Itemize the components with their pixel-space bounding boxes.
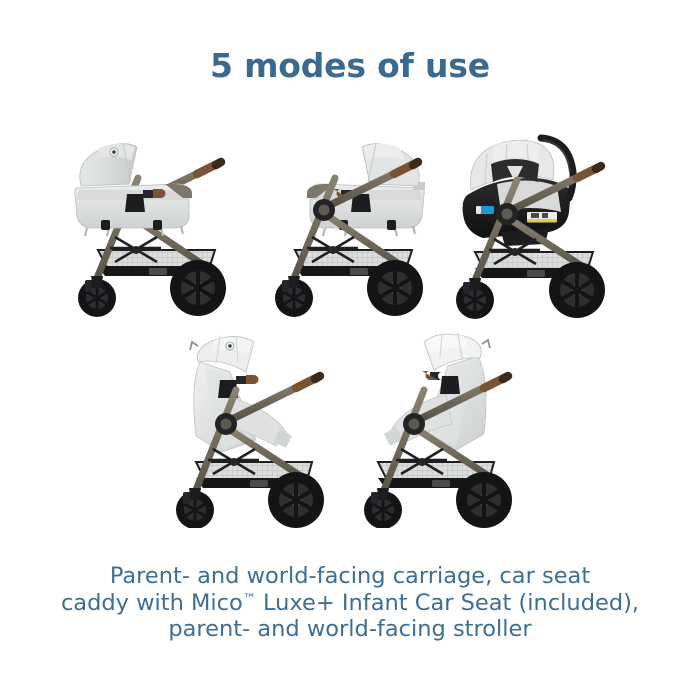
stroller-illustration <box>160 328 350 528</box>
car-seat-caddy-illustration <box>445 120 635 320</box>
mode-1-parent-facing-carriage <box>65 120 255 320</box>
caption-line-2: caddy with Mico™ Luxe+ Infant Car Seat (… <box>0 590 700 617</box>
carriage-illustration <box>65 120 255 320</box>
caption-line-1: Parent- and world-facing carriage, car s… <box>0 563 700 590</box>
mode-3-car-seat-caddy <box>445 120 635 320</box>
caption-line-3: parent- and world-facing stroller <box>0 616 700 643</box>
infographic-root: 5 modes of use <box>0 0 700 700</box>
mode-row-top <box>0 120 700 320</box>
page-title: 5 modes of use <box>0 46 700 85</box>
mode-2-world-facing-carriage <box>255 120 445 320</box>
carriage-illustration <box>255 120 445 320</box>
stroller-illustration <box>350 328 540 528</box>
trademark-symbol: ™ <box>243 592 256 607</box>
caption-line-2-part-b: Luxe+ Infant Car Seat (included), <box>256 590 639 616</box>
caption-block: Parent- and world-facing carriage, car s… <box>0 563 700 643</box>
mode-4-parent-facing-stroller <box>160 328 350 528</box>
caption-line-2-part-a: caddy with Mico <box>61 590 243 616</box>
mode-row-bottom <box>0 328 700 528</box>
mode-5-world-facing-stroller <box>350 328 540 528</box>
